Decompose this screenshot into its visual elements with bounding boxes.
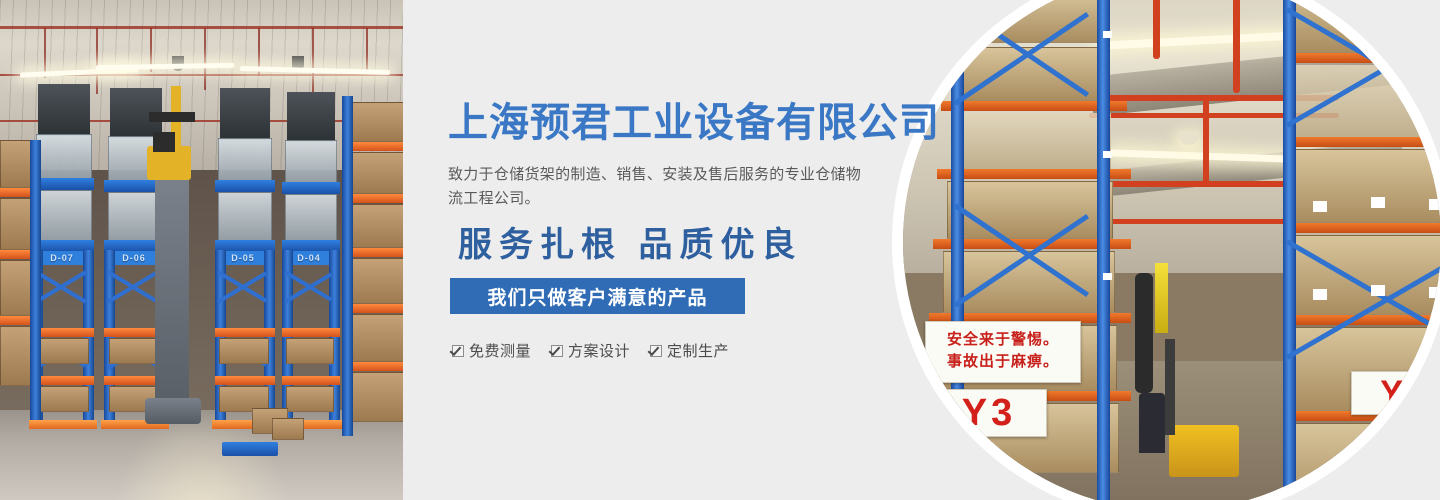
right-rack-right	[1283, 0, 1440, 500]
rack-beam	[215, 328, 275, 337]
carton-load	[219, 338, 269, 364]
sprinkler-drop	[312, 28, 314, 94]
crane-column	[155, 180, 189, 424]
rack-location-label	[1313, 201, 1327, 212]
feature-item-free-measure[interactable]: 免费测量	[452, 340, 531, 361]
rack-location-label	[1103, 31, 1112, 38]
safety-sign-line-2: 事故出于麻痹。	[932, 351, 1074, 373]
feature-label: 定制生产	[667, 340, 729, 361]
rack-location-label	[1429, 287, 1440, 298]
rack-beam	[32, 328, 94, 337]
rack-beam	[0, 188, 34, 197]
crane-carriage	[149, 112, 195, 122]
rack-beam	[32, 376, 94, 385]
rack-location-label	[1371, 197, 1385, 208]
rack-beam	[282, 376, 340, 385]
forklift-mast	[1165, 339, 1175, 435]
wrapped-pallet	[36, 190, 92, 242]
rack-upright	[1283, 0, 1296, 500]
rack-bay: D-07	[32, 84, 94, 438]
left-warehouse-photo: D-07 D-06	[0, 0, 403, 500]
rack-bay: D-05	[215, 88, 275, 438]
forklift	[1169, 425, 1239, 477]
company-subtitle: 致力于仓储货架的制造、销售、安装及售后服务的专业仓储物流工程公司。	[448, 163, 863, 211]
left-photo-scene: D-07 D-06	[0, 0, 403, 500]
carton-load	[286, 386, 334, 412]
safety-sign: 安全来于警惕。 事故出于麻痹。	[925, 321, 1081, 383]
carton-load	[0, 140, 34, 188]
sprinkler-drop	[96, 28, 98, 94]
sprinkler-drop	[204, 28, 206, 90]
feature-list: 免费测量 方案设计 定制生产	[452, 340, 729, 361]
check-box-icon	[452, 345, 464, 357]
right-warehouse-photo: 安全来于警惕。 事故出于麻痹。 Y3 Y3	[903, 0, 1440, 500]
rack-sign: D-05	[220, 251, 266, 265]
hero-banner: D-07 D-06	[0, 0, 1440, 500]
rack-beam	[1283, 223, 1440, 233]
wrapped-pallet	[218, 192, 272, 242]
floor-pallet	[222, 442, 278, 456]
feature-label: 方案设计	[568, 340, 630, 361]
sprinkler-pipe	[1233, 0, 1240, 93]
feature-label: 免费测量	[469, 340, 531, 361]
stacked-load	[220, 88, 270, 140]
ceiling-pipe	[0, 26, 403, 29]
carton-load	[0, 260, 34, 316]
rack-wall-right	[344, 96, 403, 442]
sprinkler-pipe	[1203, 95, 1209, 187]
feature-item-plan-design[interactable]: 方案设计	[551, 340, 630, 361]
rack-bay: D-04	[282, 92, 340, 438]
pallet-deck	[32, 178, 94, 190]
sprinkler-pipe	[1153, 0, 1160, 59]
rack-wall-left	[0, 140, 34, 440]
rack-upright	[1097, 0, 1110, 500]
wrapped-load	[951, 113, 1111, 169]
rack-beam	[1283, 137, 1440, 147]
carton-load	[37, 386, 89, 412]
aisle-pipe-column	[1135, 273, 1153, 393]
check-box-icon	[551, 345, 563, 357]
safety-sign-line-1: 安全来于警惕。	[932, 329, 1074, 351]
crane-window	[153, 132, 175, 152]
rack-beam	[0, 316, 34, 325]
carton-load	[0, 326, 34, 386]
wrapped-pallet	[218, 138, 272, 182]
crane-base	[145, 398, 201, 424]
banner-slogan: 服务扎根 品质优良	[458, 228, 802, 262]
company-title: 上海预君工业设备有限公司	[448, 103, 940, 143]
forklift-operator	[1139, 393, 1165, 453]
cta-button[interactable]: 我们只做客户满意的产品	[450, 278, 745, 314]
pallet-deck	[215, 180, 275, 192]
rack-location-label	[1371, 285, 1385, 296]
palletized-load	[947, 181, 1113, 239]
carton-load	[0, 198, 34, 250]
palletized-load	[1285, 423, 1440, 500]
stacked-load	[38, 84, 90, 136]
carton-load	[37, 338, 89, 364]
rack-location-label	[1313, 289, 1327, 300]
rack-upright	[342, 96, 353, 436]
rack-location-label	[1103, 151, 1112, 158]
rack-sign: D-04	[287, 251, 331, 265]
aisle-sign-y3-left: Y3	[931, 389, 1047, 437]
stacker-crane	[145, 86, 205, 436]
floor-carton	[272, 418, 304, 440]
yellow-bollard	[1155, 263, 1168, 333]
banner-content: 上海预君工业设备有限公司 致力于仓储货架的制造、销售、安装及售后服务的专业仓储物…	[443, 0, 913, 500]
stacked-load	[287, 92, 335, 142]
sprinkler-drop	[366, 28, 368, 72]
wrapped-pallet	[36, 134, 92, 180]
feature-item-custom-production[interactable]: 定制生产	[650, 340, 729, 361]
pallet-deck	[282, 182, 340, 194]
palletized-load	[943, 251, 1115, 313]
palletized-load	[1289, 235, 1440, 315]
rack-location-label	[1103, 273, 1112, 280]
rack-upright	[30, 140, 41, 420]
aisle-sign-y3-right: Y3	[1351, 371, 1440, 415]
right-photo-ring: 安全来于警惕。 事故出于麻痹。 Y3 Y3	[892, 0, 1440, 500]
check-box-icon	[650, 345, 662, 357]
wrapped-pallet	[285, 194, 337, 242]
rack-beam	[215, 376, 275, 385]
rack-sign: D-07	[38, 251, 86, 265]
rack-beam	[282, 328, 340, 337]
wrapped-pallet	[285, 140, 337, 184]
rack-beam	[0, 250, 34, 259]
rack-floor-guard	[29, 420, 97, 429]
carton-load	[286, 338, 334, 364]
rack-location-label	[1429, 199, 1440, 210]
